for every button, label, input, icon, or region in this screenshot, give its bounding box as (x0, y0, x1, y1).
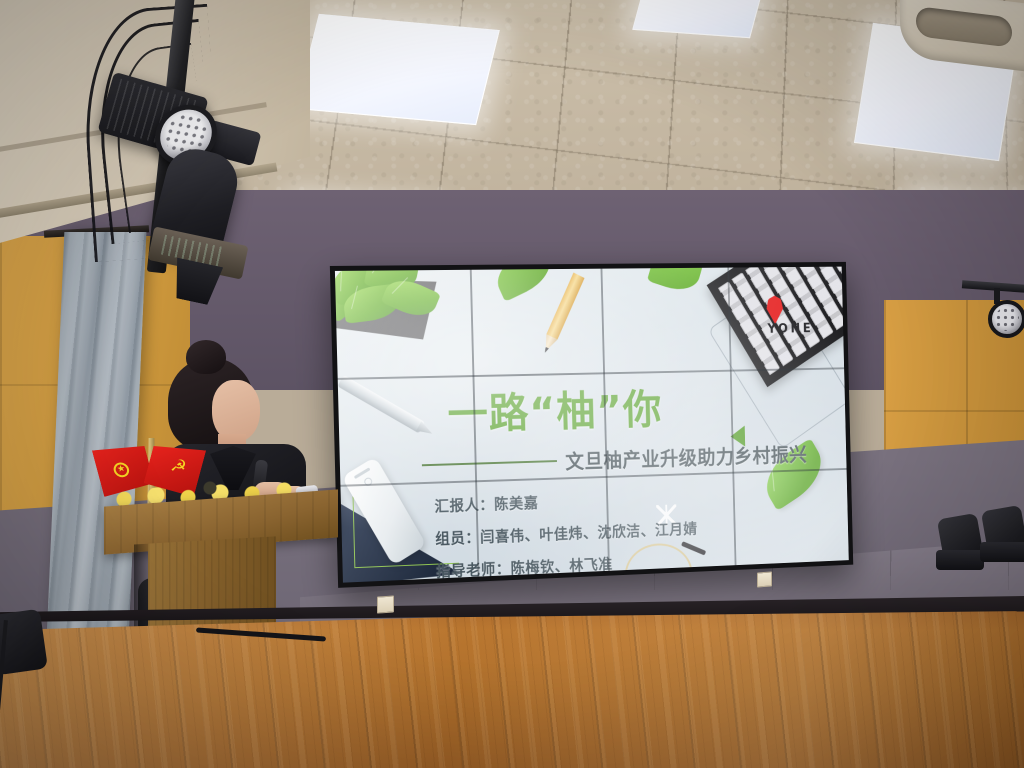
par-light-right (988, 300, 1024, 338)
flower-center (202, 480, 218, 496)
credit-presenter: 汇报人：陈美嘉 (434, 486, 697, 516)
lcd-video-wall[interactable]: YONE 一路“柚”你 文旦柚产业升级助力乡村振兴 汇报人：陈美嘉 组员：闫喜伟… (330, 262, 853, 588)
presentation-slide: YONE 一路“柚”你 文旦柚产业升级助力乡村振兴 汇报人：陈美嘉 组员：闫喜伟… (335, 267, 849, 583)
subtitle-rule (422, 460, 557, 466)
slide-text-block: 一路“柚”你 文旦柚产业升级助力乡村振兴 汇报人：陈美嘉 组员：闫喜伟、叶佳炜、… (335, 267, 849, 583)
credit-members: 组员：闫喜伟、叶佳炜、沈欣洁、江月婧 (435, 518, 698, 549)
slide-credits: 汇报人：陈美嘉 组员：闫喜伟、叶佳炜、沈欣洁、江月婧 指导老师：陈梅钦、林飞准 (434, 486, 699, 587)
floor-moving-light (936, 516, 984, 572)
presentation-room-photo: YONE 一路“柚”你 文旦柚产业升级助力乡村振兴 汇报人：陈美嘉 组员：闫喜伟… (0, 0, 1024, 768)
presenter-hair-bun (186, 340, 226, 374)
floor-moving-light (980, 508, 1024, 564)
slide-subtitle-row: 文旦柚产业升级助力乡村振兴 (422, 439, 808, 479)
hammer-sickle-icon: ☭ (169, 458, 189, 477)
star-emblem-icon: ★ (112, 462, 131, 479)
power-outlet (757, 571, 772, 587)
slide-title: 一路“柚”你 (447, 387, 762, 436)
slide-subtitle: 文旦柚产业升级助力乡村振兴 (565, 439, 807, 474)
ceiling-light-panel (295, 14, 500, 125)
moving-light-base (936, 550, 984, 570)
presenter-face (212, 380, 260, 442)
moving-light-base (980, 542, 1024, 562)
floor-equipment-left (0, 609, 48, 676)
power-outlet (377, 595, 394, 613)
